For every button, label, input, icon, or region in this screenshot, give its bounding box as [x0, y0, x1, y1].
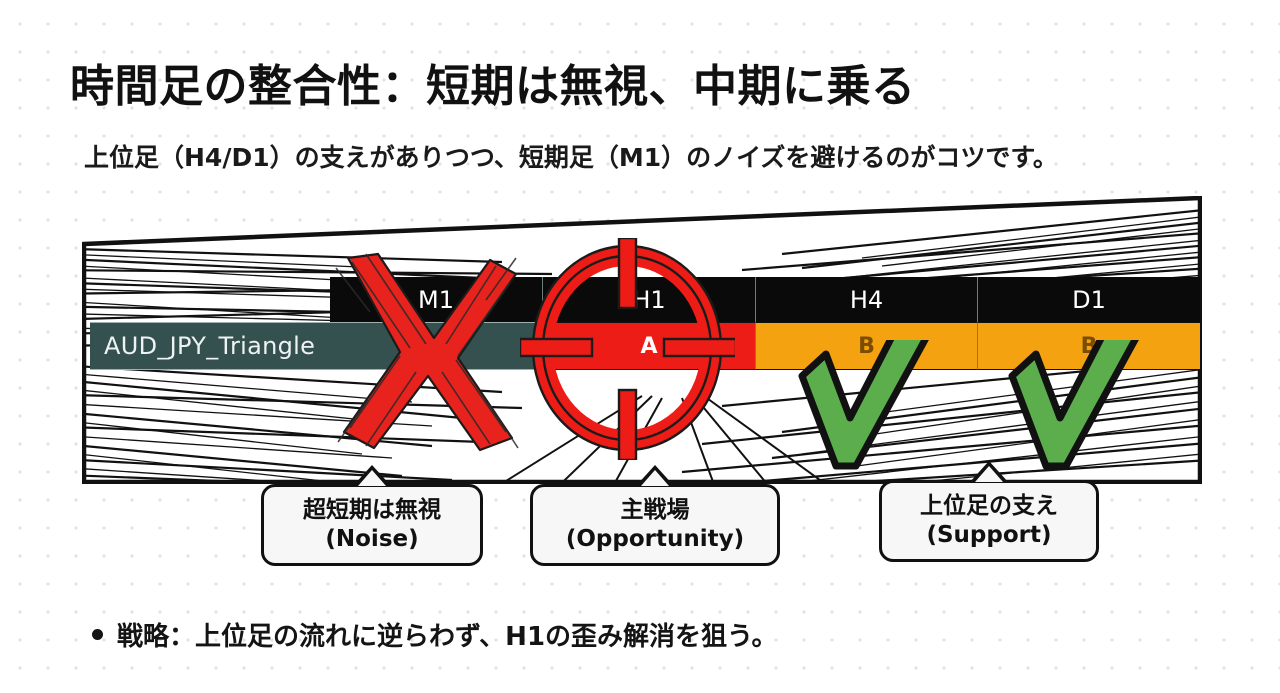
page-title: 時間足の整合性：短期は無視、中期に乗る	[70, 50, 1170, 114]
check-mark-icon-h4	[790, 340, 940, 470]
matrix-corner-cell	[90, 277, 330, 322]
callout-opportunity-line2: (Opportunity)	[566, 525, 744, 554]
page-subtitle: 上位足（H4/D1）の支えがありつつ、短期足（M1）のノイズを避けるのがコツです…	[84, 140, 1194, 176]
crosshair-target-icon	[520, 238, 735, 460]
row-label-pair: AUD_JPY_Triangle	[90, 322, 330, 370]
callout-opportunity[interactable]: 主戦場 (Opportunity)	[530, 484, 780, 566]
callout-tail	[635, 465, 675, 487]
strategy-bullet-text: 戦略：上位足の流れに逆らわず、H1の歪み解消を狙う。	[117, 616, 777, 653]
callout-tail	[352, 465, 392, 487]
strategy-bullet: 戦略：上位足の流れに逆らわず、H1の歪み解消を狙う。	[92, 612, 1182, 656]
callout-support-line1: 上位足の支え	[920, 492, 1058, 521]
bullet-dot-icon	[92, 629, 103, 640]
callout-support[interactable]: 上位足の支え (Support)	[879, 480, 1099, 562]
callout-opportunity-line1: 主戦場	[621, 496, 690, 525]
callout-tail	[969, 461, 1009, 483]
callout-noise[interactable]: 超短期は無視 (Noise)	[261, 484, 483, 566]
callout-support-line2: (Support)	[926, 521, 1051, 550]
timeframe-header-h4[interactable]: H4	[756, 277, 978, 322]
callout-noise-line2: (Noise)	[325, 525, 418, 554]
check-mark-icon-d1	[1000, 340, 1150, 470]
callout-noise-line1: 超短期は無視	[303, 496, 441, 525]
timeframe-header-d1[interactable]: D1	[978, 277, 1200, 322]
x-mark-icon	[330, 252, 520, 452]
